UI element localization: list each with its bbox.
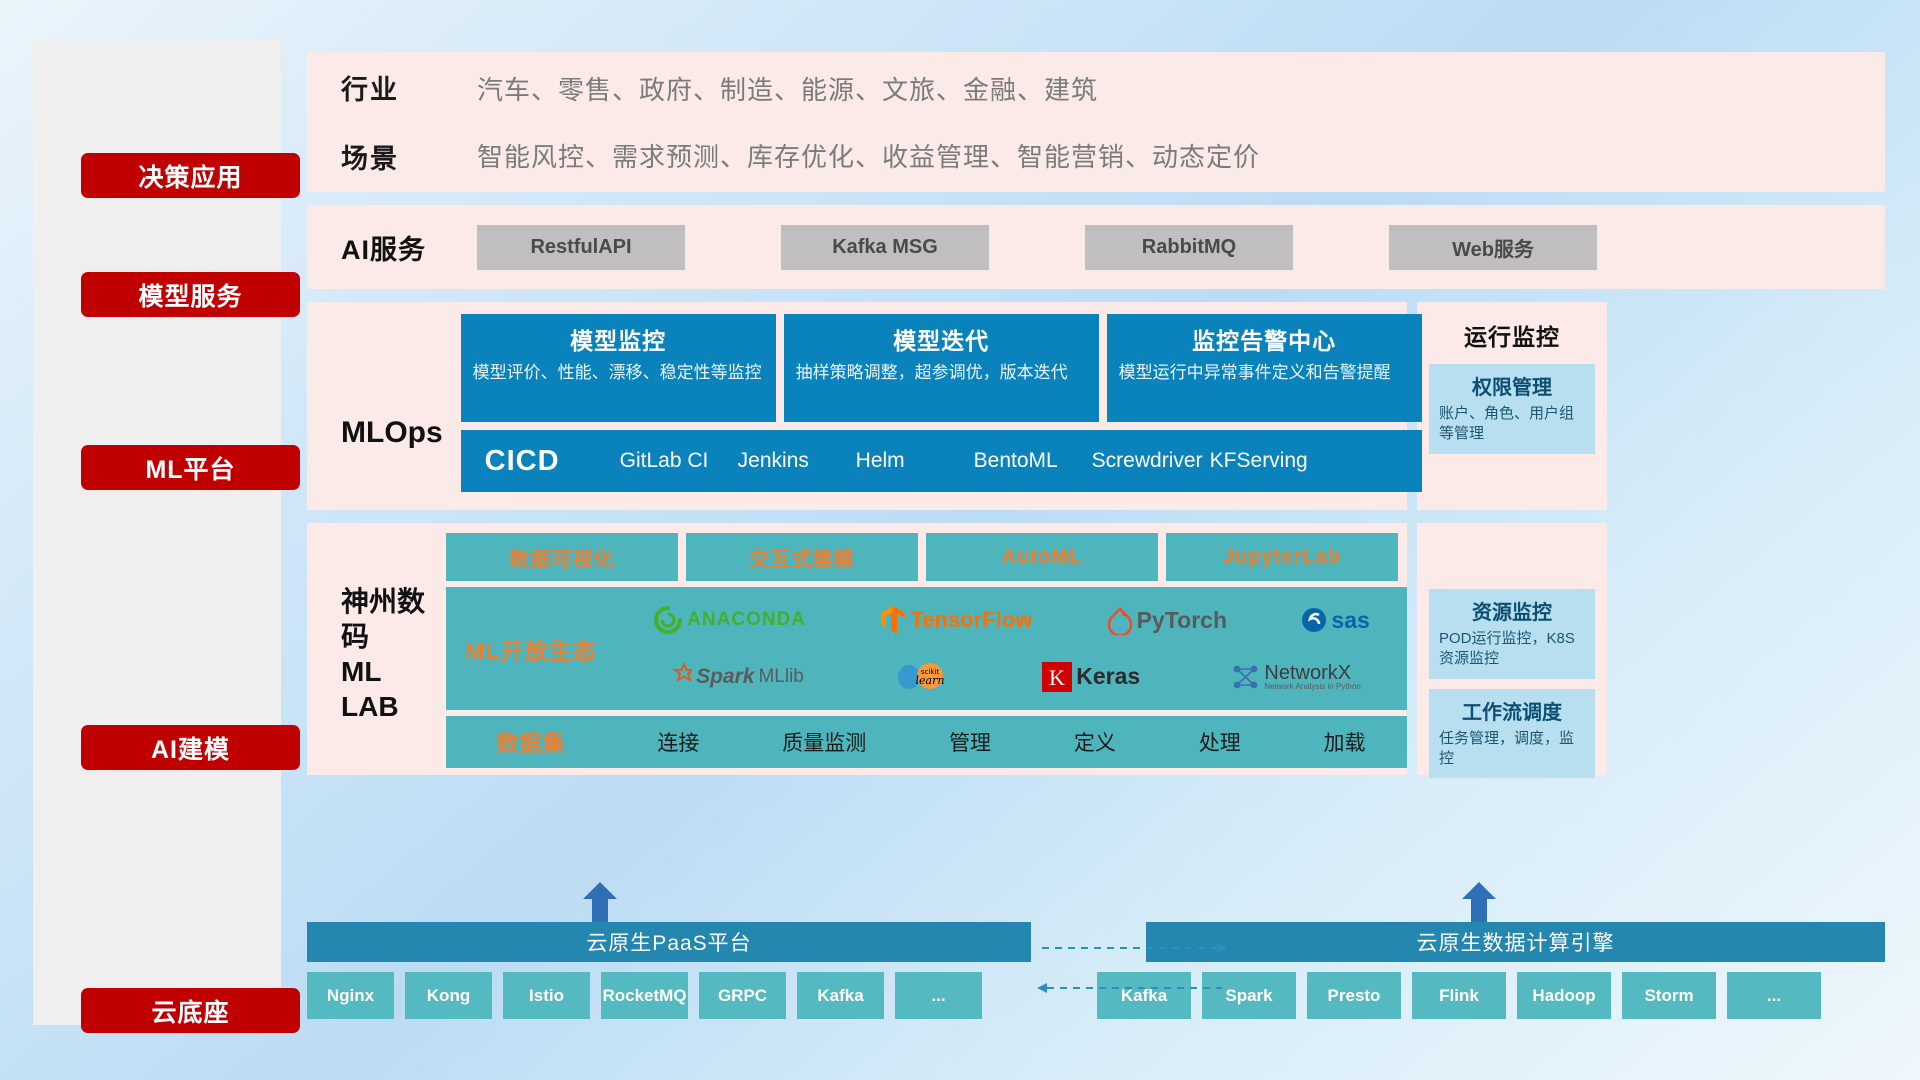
anaconda-logo-text: ANACONDA (687, 609, 806, 631)
band-gap-1 (307, 192, 1885, 205)
cicd-item-helm[interactable]: Helm (856, 450, 974, 472)
rail-item-model-service[interactable]: 模型服务 (81, 272, 300, 317)
spark-mllib-logo: Spark MLlib (662, 663, 804, 691)
monitoring-card-permission[interactable]: 权限管理 账户、角色、用户组等管理 (1429, 364, 1595, 454)
dataset-items: 连接 质量监测 管理 定义 处理 加载 (616, 727, 1407, 757)
card-desc: 抽样策略调整，超参调优，版本迭代 (796, 362, 1087, 385)
dataset-item-process[interactable]: 处理 (1199, 727, 1241, 757)
spark-logo-text: Spark (696, 665, 754, 689)
keras-logo-text: Keras (1076, 663, 1140, 690)
ml-lab-label-en: ML LAB (341, 654, 428, 724)
scenario-value: 智能风控、需求预测、库存优化、收益管理、智能营销、动态定价 (477, 137, 1260, 174)
mlops-card-model-iteration[interactable]: 模型迭代 抽样策略调整，超参调优，版本迭代 (784, 314, 1099, 422)
mlops-card-alert-center[interactable]: 监控告警中心 模型运行中异常事件定义和告警提醒 (1107, 314, 1422, 422)
tensorflow-mark-icon (880, 605, 906, 635)
ai-service-band: AI服务 RestfulAPI Kafka MSG RabbitMQ Web服务 (307, 205, 1885, 289)
ml-lab-content: 数据可视化 交互式建模 AutoML JupyterLab ML开放生态 (446, 533, 1407, 775)
cicd-item-kfserving[interactable]: KFServing (1210, 450, 1328, 472)
mlops-cards: 模型监控 模型评价、性能、漂移、稳定性等监控 模型迭代 抽样策略调整，超参调优，… (461, 314, 1422, 422)
card-desc: 模型运行中异常事件定义和告警提醒 (1119, 362, 1410, 385)
chip-flink[interactable]: Flink (1412, 972, 1506, 1019)
industry-value: 汽车、零售、政府、制造、能源、文旅、金融、建筑 (477, 70, 1260, 107)
monitoring-column-top: 运行监控 权限管理 账户、角色、用户组等管理 (1417, 302, 1607, 510)
ai-service-item-kafka-msg[interactable]: Kafka MSG (781, 225, 989, 270)
data-engine-bar[interactable]: 云原生数据计算引擎 (1146, 922, 1885, 962)
ecosystem-logos-row-1: ANACONDA TensorFlow (616, 593, 1407, 648)
tool-data-visualization[interactable]: 数据可视化 (446, 533, 678, 581)
scenario-label: 场景 (341, 137, 459, 176)
sas-logo-text: sas (1331, 607, 1369, 634)
mlops-card-model-monitoring[interactable]: 模型监控 模型评价、性能、漂移、稳定性等监控 (461, 314, 776, 422)
card-desc: POD运行监控，K8S资源监控 (1439, 629, 1585, 670)
rail-item-ml-platform[interactable]: ML平台 (81, 445, 300, 490)
card-title: 权限管理 (1439, 371, 1585, 400)
dataset-item-load[interactable]: 加载 (1324, 727, 1366, 757)
card-title: 工作流调度 (1439, 696, 1585, 725)
cicd-bar: CICD GitLab CI Jenkins Helm BentoML Scre… (461, 430, 1422, 492)
dataset-item-connect[interactable]: 连接 (657, 727, 699, 757)
cicd-item-jenkins[interactable]: Jenkins (738, 450, 856, 472)
chip-more-left[interactable]: ... (895, 972, 982, 1019)
tool-jupyterlab[interactable]: JupyterLab (1166, 533, 1398, 581)
rail-item-ai-modeling[interactable]: AI建模 (81, 725, 300, 770)
chip-kafka[interactable]: Kafka (797, 972, 884, 1019)
scikit-mark-icon: scikit learn (896, 662, 950, 692)
tool-automl[interactable]: AutoML (926, 533, 1158, 581)
card-title: 模型监控 (473, 322, 764, 356)
chip-nginx[interactable]: Nginx (307, 972, 394, 1019)
pytorch-mark-icon (1107, 605, 1133, 635)
dataset-item-define[interactable]: 定义 (1074, 727, 1116, 757)
pytorch-logo: PyTorch (1107, 605, 1227, 635)
chip-hadoop[interactable]: Hadoop (1517, 972, 1611, 1019)
cicd-item-bentoml[interactable]: BentoML (974, 450, 1092, 472)
scikit-learn-logo: scikit learn (896, 662, 950, 692)
mlops-content: 模型监控 模型评价、性能、漂移、稳定性等监控 模型迭代 抽样策略调整，超参调优，… (461, 314, 1422, 510)
rail-item-decision-app[interactable]: 决策应用 (81, 153, 300, 198)
ai-service-label: AI服务 (341, 228, 459, 267)
anaconda-mark-icon (653, 605, 683, 635)
decision-band-labels: 行业 场景 (341, 68, 459, 176)
up-arrows (307, 882, 1885, 922)
rail-item-cloud-base[interactable]: 云底座 (81, 988, 300, 1033)
arrow-up-data-engine-icon (1462, 882, 1496, 922)
svg-text:learn: learn (916, 674, 945, 687)
ml-lab-label-cn: 神州数码 (341, 584, 428, 654)
ai-service-items: RestfulAPI Kafka MSG RabbitMQ Web服务 (477, 225, 1597, 270)
left-rail: 决策应用 模型服务 ML平台 AI建模 云底座 (33, 40, 281, 1025)
ml-lab-label: 神州数码 ML LAB (341, 533, 428, 775)
cicd-title: CICD (485, 445, 620, 478)
keras-logo: K Keras (1042, 662, 1140, 692)
networkx-logo-tagline: Network Analysis in Python (1264, 683, 1361, 691)
mllib-logo-text: MLlib (758, 666, 803, 688)
card-desc: 模型评价、性能、漂移、稳定性等监控 (473, 362, 764, 385)
decision-application-band: 行业 场景 汽车、零售、政府、制造、能源、文旅、金融、建筑 智能风控、需求预测、… (307, 52, 1885, 192)
ecosystem-logos: ANACONDA TensorFlow (616, 587, 1407, 710)
tensorflow-logo-text: TensorFlow (910, 607, 1032, 633)
keras-mark-icon: K (1042, 662, 1072, 692)
sas-mark-icon (1301, 607, 1327, 633)
arrow-up-paas-icon (583, 882, 617, 922)
card-desc: 账户、角色、用户组等管理 (1439, 404, 1585, 445)
svg-text:K: K (1049, 665, 1065, 690)
tensorflow-logo: TensorFlow (880, 605, 1032, 635)
networkx-logo: NetworkX Network Analysis in Python (1232, 663, 1361, 691)
card-title: 模型迭代 (796, 322, 1087, 356)
ml-lab-band: 神州数码 ML LAB 数据可视化 交互式建模 AutoML JupyterLa… (307, 523, 1407, 775)
chip-grpc[interactable]: GRPC (699, 972, 786, 1019)
spark-mark-icon (662, 663, 692, 691)
monitoring-column-bottom: 资源监控 POD运行监控，K8S资源监控 工作流调度 任务管理，调度，监控 (1417, 523, 1607, 775)
card-title: 监控告警中心 (1119, 322, 1410, 356)
monitoring-card-resource[interactable]: 资源监控 POD运行监控，K8S资源监控 (1429, 589, 1595, 679)
cicd-item-screwdriver[interactable]: Screwdriver (1092, 450, 1210, 472)
chip-storm[interactable]: Storm (1622, 972, 1716, 1019)
ai-service-item-restfulapi[interactable]: RestfulAPI (477, 225, 685, 270)
mlops-row: MLOps 模型监控 模型评价、性能、漂移、稳定性等监控 模型迭代 抽样策略调整… (307, 302, 1885, 510)
architecture-diagram: 决策应用 模型服务 ML平台 AI建模 云底座 行业 场景 汽车、零售、政府、制… (0, 0, 1920, 1080)
paas-chips: Nginx Kong Istio RocketMQ GRPC Kafka ... (307, 972, 982, 1019)
dashed-connectors (1037, 940, 1227, 1000)
ai-service-item-rabbitmq[interactable]: RabbitMQ (1085, 225, 1293, 270)
anaconda-logo: ANACONDA (653, 605, 806, 635)
mlops-label: MLOps (341, 356, 443, 510)
pytorch-logo-text: PyTorch (1137, 607, 1227, 634)
decision-band-values: 汽车、零售、政府、制造、能源、文旅、金融、建筑 智能风控、需求预测、库存优化、收… (477, 70, 1260, 174)
ecosystem-logos-row-2: Spark MLlib scikit learn (616, 650, 1407, 705)
band-gap-2 (307, 289, 1885, 302)
cicd-item-gitlab-ci[interactable]: GitLab CI (620, 450, 738, 472)
dataset-label: 数据集 (446, 726, 616, 758)
networkx-logo-text: NetworkX (1264, 662, 1351, 684)
ai-service-item-web[interactable]: Web服务 (1389, 225, 1597, 270)
chip-istio[interactable]: Istio (503, 972, 590, 1019)
paas-platform-bar[interactable]: 云原生PaaS平台 (307, 922, 1031, 962)
chip-kong[interactable]: Kong (405, 972, 492, 1019)
card-title: 资源监控 (1439, 596, 1585, 625)
dataset-item-quality[interactable]: 质量监测 (782, 727, 866, 757)
tool-interactive-modeling[interactable]: 交互式建模 (686, 533, 918, 581)
networkx-mark-icon (1232, 663, 1260, 691)
chip-rocketmq[interactable]: RocketMQ (601, 972, 688, 1019)
ml-lab-row: 神州数码 ML LAB 数据可视化 交互式建模 AutoML JupyterLa… (307, 523, 1885, 775)
monitoring-card-workflow[interactable]: 工作流调度 任务管理，调度，监控 (1429, 689, 1595, 779)
dataset-item-manage[interactable]: 管理 (949, 727, 991, 757)
industry-label: 行业 (341, 68, 459, 107)
ml-open-ecosystem: ML开放生态 ANACONDA (446, 587, 1407, 710)
monitoring-title: 运行监控 (1429, 318, 1595, 352)
chip-presto[interactable]: Presto (1307, 972, 1401, 1019)
chip-more-right[interactable]: ... (1727, 972, 1821, 1019)
mlops-band: MLOps 模型监控 模型评价、性能、漂移、稳定性等监控 模型迭代 抽样策略调整… (307, 302, 1407, 510)
main-column: 行业 场景 汽车、零售、政府、制造、能源、文旅、金融、建筑 智能风控、需求预测、… (307, 52, 1885, 775)
ecosystem-label: ML开放生态 (446, 632, 616, 666)
card-desc: 任务管理，调度，监控 (1439, 729, 1585, 770)
ml-lab-tools: 数据可视化 交互式建模 AutoML JupyterLab (446, 533, 1407, 581)
sas-logo: sas (1301, 607, 1369, 634)
dataset-row: 数据集 连接 质量监测 管理 定义 处理 加载 (446, 716, 1407, 768)
cloud-base-section: 云原生PaaS平台 云原生数据计算引擎 Nginx Kong Istio Roc… (307, 882, 1885, 1019)
